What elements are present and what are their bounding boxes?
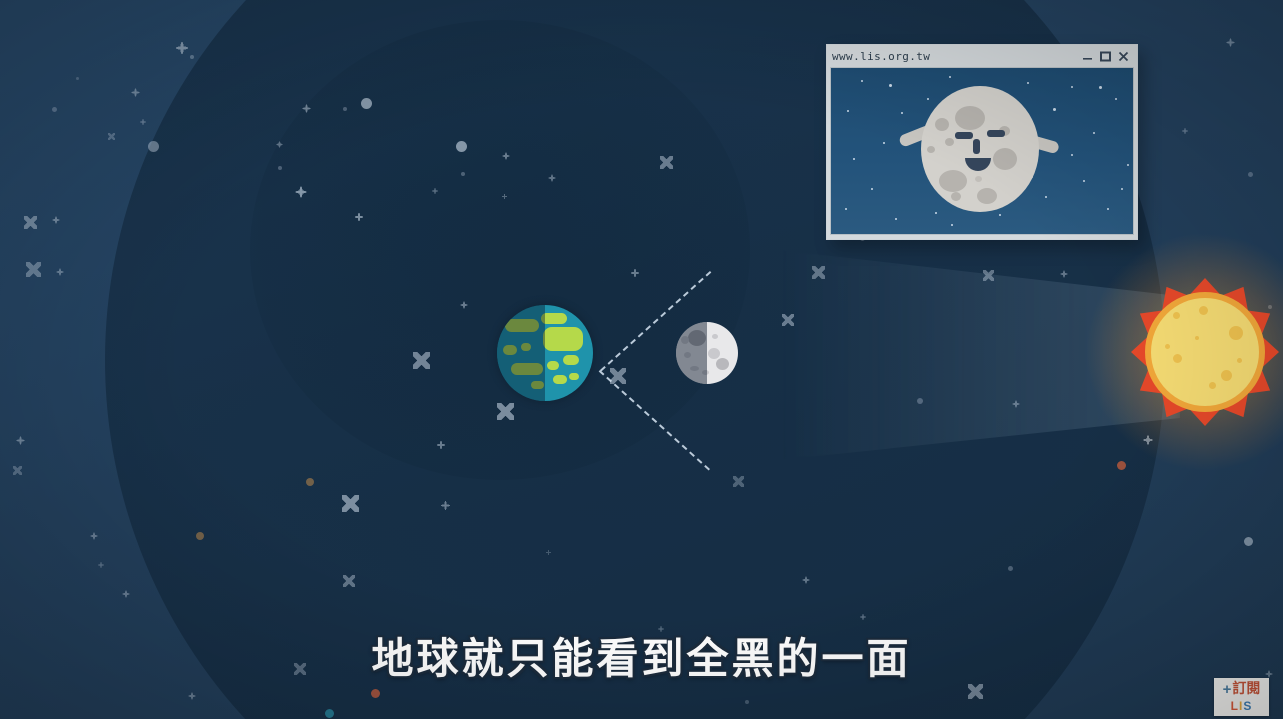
browser-window[interactable]: www.lis.org.tw xyxy=(826,44,1138,240)
window-star xyxy=(871,188,873,190)
window-star xyxy=(951,224,953,226)
star-spark xyxy=(434,438,448,452)
star-cross xyxy=(983,270,994,281)
star-cross xyxy=(733,476,744,487)
window-star xyxy=(1099,86,1102,89)
moon-character-crater xyxy=(927,146,935,153)
star-cross xyxy=(413,352,430,369)
window-title: www.lis.org.tw xyxy=(832,50,930,63)
minimize-icon[interactable] xyxy=(1082,51,1093,62)
star-cross xyxy=(342,495,359,512)
star-dot xyxy=(306,478,314,486)
star-spark xyxy=(1224,36,1237,49)
sun-core xyxy=(1151,298,1259,406)
star-dot xyxy=(1244,537,1253,546)
star-spark xyxy=(138,117,148,127)
window-content xyxy=(830,67,1134,235)
window-star xyxy=(1121,188,1123,190)
subscribe-badge[interactable]: + 訂閱 LIS xyxy=(1214,678,1269,716)
window-star xyxy=(901,112,903,114)
star-cross xyxy=(782,314,794,326)
star-dot xyxy=(917,398,923,404)
window-star xyxy=(1107,208,1109,210)
star-spark xyxy=(352,210,366,224)
star-cross xyxy=(108,133,115,140)
star-spark xyxy=(14,434,27,447)
sun-spot xyxy=(1199,306,1208,315)
moon-nose-icon xyxy=(973,139,980,154)
plus-icon: + xyxy=(1223,682,1232,697)
star-dot xyxy=(371,689,380,698)
earth-landmass xyxy=(543,327,583,351)
close-icon[interactable] xyxy=(1118,51,1129,62)
sun-spot xyxy=(1229,326,1243,340)
star-cross xyxy=(660,156,673,169)
window-star xyxy=(1071,86,1073,88)
star-spark xyxy=(1058,268,1070,280)
window-star xyxy=(1127,164,1129,166)
moon-character-crater xyxy=(977,188,997,204)
window-star xyxy=(853,158,855,160)
window-star xyxy=(883,142,885,144)
star-dot xyxy=(278,166,282,170)
moon-character-crater xyxy=(993,148,1017,170)
moon-character-crater xyxy=(935,118,949,131)
star-cross xyxy=(343,575,355,587)
window-star xyxy=(1071,154,1073,156)
star-cross xyxy=(497,403,514,420)
star-dot xyxy=(196,532,204,540)
window-star xyxy=(1083,180,1085,182)
subscribe-row: + 訂閱 xyxy=(1223,682,1261,697)
star-spark xyxy=(500,192,509,201)
earth-landmass xyxy=(563,355,579,365)
star-spark xyxy=(1180,126,1190,136)
earth-sphere xyxy=(497,305,593,401)
moon-chin-dot xyxy=(975,176,982,182)
star-dot xyxy=(1008,566,1013,571)
moon-character-body xyxy=(921,86,1039,212)
window-star xyxy=(889,84,892,87)
window-star xyxy=(1045,196,1047,198)
star-cross xyxy=(13,466,22,475)
window-controls xyxy=(1082,51,1131,62)
sun-spot xyxy=(1195,336,1199,340)
star-spark xyxy=(628,266,642,280)
moon-sphere xyxy=(676,322,738,384)
star-spark xyxy=(430,186,440,196)
moon xyxy=(676,322,738,384)
moon-character xyxy=(913,86,1043,216)
sun-spot xyxy=(1237,358,1242,363)
star-cross xyxy=(812,266,825,279)
star-spark xyxy=(172,38,192,58)
star-spark xyxy=(500,150,512,162)
window-star xyxy=(845,208,847,210)
earth-landmass xyxy=(553,375,567,384)
window-star xyxy=(1093,132,1095,134)
moon-character-crater xyxy=(939,170,967,192)
star-spark xyxy=(292,183,310,201)
window-star xyxy=(861,80,863,82)
star-spark xyxy=(800,574,812,586)
sun-spot xyxy=(1173,312,1180,319)
moon-crater xyxy=(708,348,720,359)
star-spark xyxy=(546,172,558,184)
star-dot xyxy=(52,107,57,112)
star-dot xyxy=(343,107,347,111)
window-titlebar[interactable]: www.lis.org.tw xyxy=(830,48,1134,65)
star-dot xyxy=(190,55,194,59)
sun-spot xyxy=(1173,354,1182,363)
subtitle-text: 地球就只能看到全黑的一面 xyxy=(0,625,1283,686)
star-cross xyxy=(24,216,37,229)
star-spark xyxy=(300,102,313,115)
earth-night-side xyxy=(497,305,545,401)
star-cross xyxy=(968,684,983,699)
moon-character-crater xyxy=(951,192,961,201)
moon-character-crater xyxy=(955,106,985,130)
window-star xyxy=(1027,82,1029,84)
star-dot xyxy=(1117,461,1126,470)
sun xyxy=(1125,272,1283,432)
star-spark xyxy=(1010,398,1022,410)
window-star xyxy=(847,110,849,112)
star-dot xyxy=(76,77,79,80)
star-dot xyxy=(1248,172,1253,177)
window-star xyxy=(895,218,897,220)
moon-near-side-dark xyxy=(676,322,707,384)
subscribe-label: 訂閱 xyxy=(1232,682,1260,696)
star-spark xyxy=(88,530,100,542)
star-spark xyxy=(96,560,106,570)
star-cross xyxy=(26,262,41,277)
star-spark xyxy=(186,690,198,702)
star-spark xyxy=(50,214,62,226)
star-dot xyxy=(745,700,749,704)
video-frame: www.lis.org.tw xyxy=(0,0,1283,719)
earth xyxy=(497,305,593,401)
moon-crater xyxy=(712,334,718,339)
star-spark xyxy=(120,588,132,600)
star-spark xyxy=(54,266,66,278)
lis-logo: LIS xyxy=(1231,699,1253,713)
sun-spot xyxy=(1165,344,1170,349)
star-dot xyxy=(361,98,372,109)
lis-letter-l: L xyxy=(1231,699,1239,713)
lis-letter-s: S xyxy=(1243,699,1252,713)
moon-character-crater xyxy=(945,138,954,146)
maximize-icon[interactable] xyxy=(1100,51,1111,62)
star-spark xyxy=(458,299,470,311)
star-spark xyxy=(274,139,285,150)
star-spark xyxy=(858,612,868,622)
earth-landmass xyxy=(547,361,559,370)
moon-crater xyxy=(716,358,729,370)
star-dot xyxy=(456,141,467,152)
window-star xyxy=(949,76,951,78)
earth-landmass xyxy=(569,373,579,380)
star-dot xyxy=(325,709,334,718)
moon-eye-right-icon xyxy=(987,130,1005,137)
sun-spot xyxy=(1209,382,1216,389)
moon-mouth-icon xyxy=(965,158,991,171)
star-spark xyxy=(438,498,453,513)
window-star xyxy=(1115,98,1117,100)
moon-eye-left-icon xyxy=(955,132,973,139)
sun-spot xyxy=(1221,370,1232,381)
star-dot xyxy=(148,141,159,152)
star-dot xyxy=(461,172,465,176)
star-spark xyxy=(544,548,553,557)
window-star xyxy=(1053,108,1056,111)
star-spark xyxy=(129,86,142,99)
